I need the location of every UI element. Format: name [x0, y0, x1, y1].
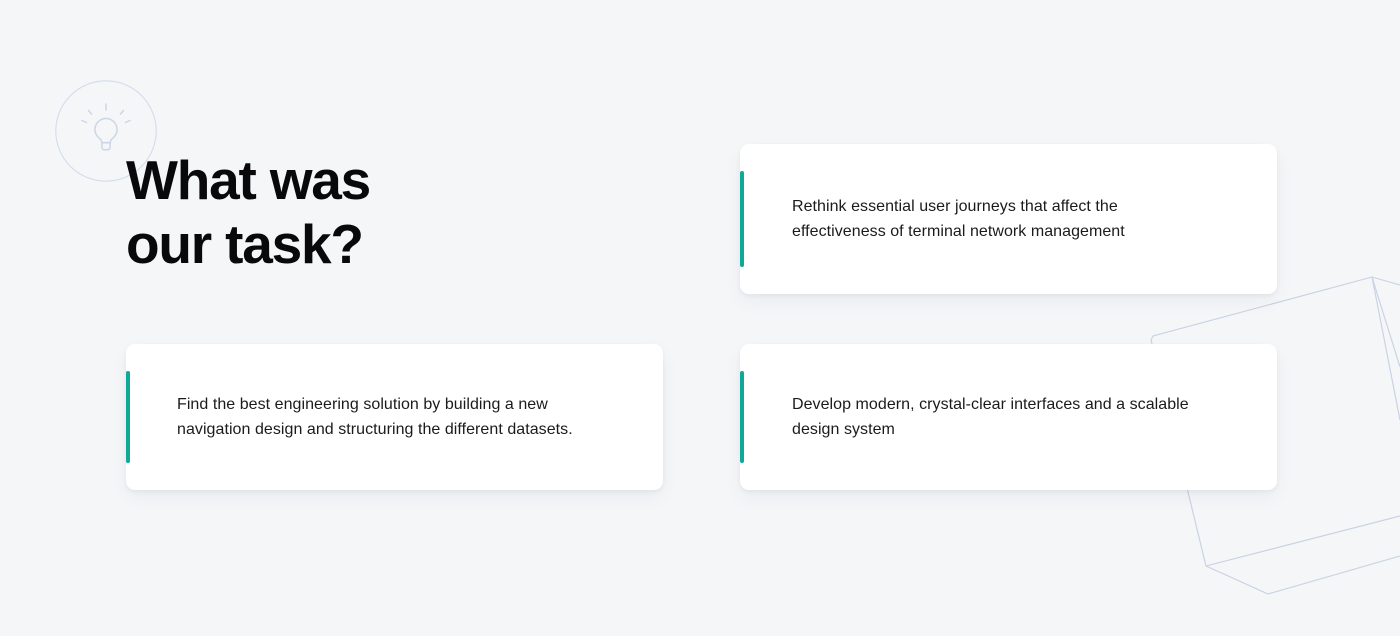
- card-accent-bar: [740, 171, 744, 267]
- decorative-wireframe-art: [0, 0, 1400, 636]
- task-card-develop: Develop modern, crystal-clear interfaces…: [740, 344, 1277, 490]
- task-card-text: Develop modern, crystal-clear interfaces…: [740, 392, 1219, 443]
- card-accent-bar: [126, 371, 130, 463]
- task-card-text: Rethink essential user journeys that aff…: [740, 194, 1155, 245]
- task-card-rethink: Rethink essential user journeys that aff…: [740, 144, 1277, 294]
- task-card-find: Find the best engineering solution by bu…: [126, 344, 663, 490]
- task-card-text: Find the best engineering solution by bu…: [126, 392, 597, 443]
- card-accent-bar: [740, 371, 744, 463]
- page-title: What was our task?: [126, 148, 370, 276]
